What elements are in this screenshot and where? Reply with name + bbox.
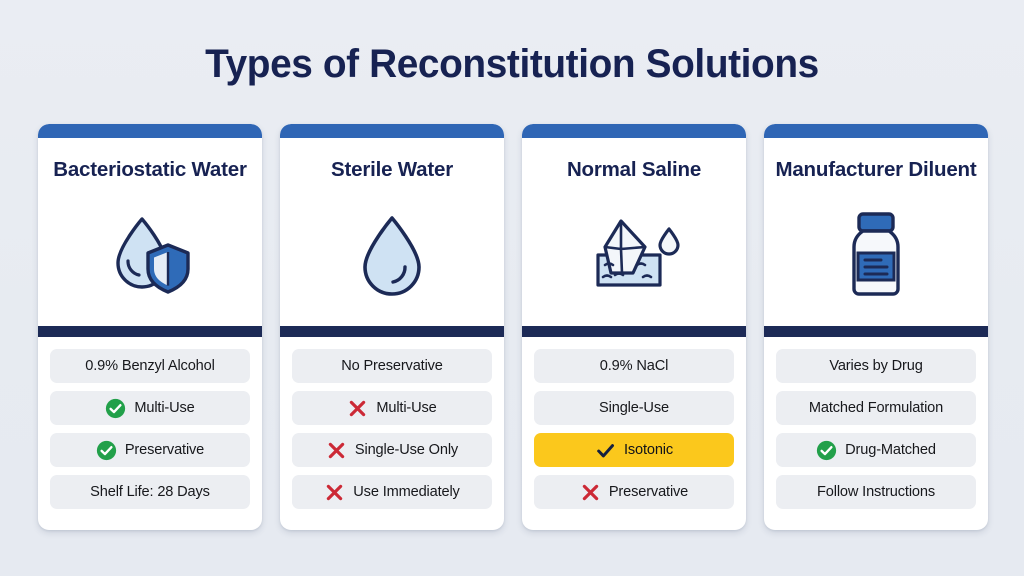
card-top-bar [764,124,988,138]
attribute-row: Preservative [534,475,734,509]
solution-card[interactable]: Bacteriostatic Water 0.9% Benzyl Alcohol… [38,124,262,530]
attribute-row: Multi-Use [50,391,250,425]
cross-icon [347,398,368,419]
check-circle-icon [105,398,126,419]
attribute-label: 0.9% NaCl [600,358,668,374]
card-title: Manufacturer Diluent [765,156,986,183]
solution-card[interactable]: Normal Saline 0.9% NaClSingle-Use Isoton… [522,124,746,530]
attribute-row: Follow Instructions [776,475,976,509]
checkmark-icon [595,440,616,461]
card-top-bar [280,124,504,138]
card-divider [522,326,746,337]
card-divider [38,326,262,337]
attribute-label: No Preservative [341,358,443,374]
attribute-label: Shelf Life: 28 Days [90,484,210,500]
attribute-label: Use Immediately [353,484,459,500]
card-header: Normal Saline [522,138,746,326]
attribute-row: Matched Formulation [776,391,976,425]
cross-icon [347,398,368,419]
infographic-page: Types of Reconstitution Solutions Bacter… [0,0,1024,576]
check-circle-icon [816,440,837,461]
cross-icon [324,482,345,503]
attribute-label: Drug-Matched [845,442,936,458]
attribute-row: Shelf Life: 28 Days [50,475,250,509]
card-title: Normal Saline [557,156,711,183]
cross-icon [326,440,347,461]
attribute-label: Matched Formulation [809,400,943,416]
card-attribute-list: 0.9% NaClSingle-Use Isotonic Preservativ… [522,337,746,530]
attribute-row: Varies by Drug [776,349,976,383]
attribute-label: Single-Use Only [355,442,458,458]
card-top-bar [522,124,746,138]
water-drop-icon [346,209,438,301]
attribute-row-highlighted: Isotonic [534,433,734,467]
cross-icon [326,440,347,461]
attribute-row: 0.9% Benzyl Alcohol [50,349,250,383]
attribute-row: Preservative [50,433,250,467]
attribute-row: 0.9% NaCl [534,349,734,383]
card-top-bar [38,124,262,138]
solution-card[interactable]: Sterile Water No Preservative Multi-Use … [280,124,504,530]
attribute-label: Preservative [125,442,204,458]
card-attribute-list: Varies by DrugMatched Formulation Drug-M… [764,337,988,530]
check-circle-icon [96,440,117,461]
attribute-label: Follow Instructions [817,484,935,500]
card-title: Bacteriostatic Water [43,156,256,183]
water-drop-icon [280,183,504,326]
card-header: Sterile Water [280,138,504,326]
cross-icon [580,482,601,503]
checkmark-icon [595,440,616,461]
attribute-row: Single-Use Only [292,433,492,467]
attribute-label: Multi-Use [134,400,194,416]
salt-crystal-water-icon [585,211,683,299]
attribute-row: Multi-Use [292,391,492,425]
card-divider [764,326,988,337]
cards-container: Bacteriostatic Water 0.9% Benzyl Alcohol… [38,124,988,530]
attribute-label: Varies by Drug [829,358,922,374]
water-drop-shield-icon [38,183,262,326]
card-header: Bacteriostatic Water [38,138,262,326]
solution-card[interactable]: Manufacturer Diluent Varies by DrugMatch… [764,124,988,530]
attribute-label: Preservative [609,484,688,500]
check-circle-icon [96,440,117,461]
attribute-label: 0.9% Benzyl Alcohol [85,358,214,374]
medicine-vial-icon [764,183,988,326]
attribute-row: Drug-Matched [776,433,976,467]
card-title: Sterile Water [321,156,463,183]
card-attribute-list: 0.9% Benzyl Alcohol Multi-Use Preservati… [38,337,262,530]
water-drop-shield-icon [104,209,196,301]
card-header: Manufacturer Diluent [764,138,988,326]
attribute-label: Isotonic [624,442,673,458]
attribute-row: Single-Use [534,391,734,425]
attribute-row: No Preservative [292,349,492,383]
attribute-label: Single-Use [599,400,669,416]
cross-icon [580,482,601,503]
attribute-label: Multi-Use [376,400,436,416]
check-circle-icon [816,440,837,461]
salt-crystal-water-icon [522,183,746,326]
card-attribute-list: No Preservative Multi-Use Single-Use Onl… [280,337,504,530]
check-circle-icon [105,398,126,419]
cross-icon [324,482,345,503]
page-title: Types of Reconstitution Solutions [15,42,1008,87]
card-divider [280,326,504,337]
attribute-row: Use Immediately [292,475,492,509]
medicine-vial-icon [841,209,911,301]
